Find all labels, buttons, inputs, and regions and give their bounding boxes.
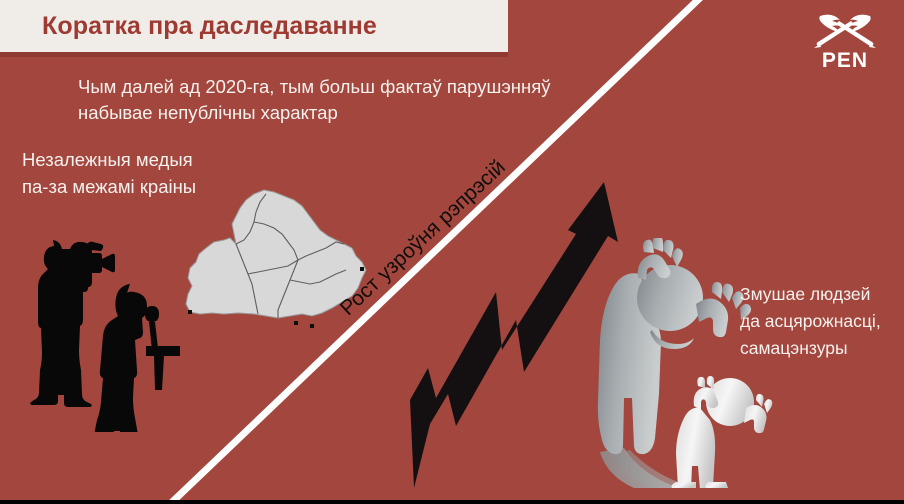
pen-logo: PEN bbox=[806, 10, 884, 72]
pen-wordmark: PEN bbox=[806, 51, 884, 71]
right-caption-text: Змушае людзей да асцярожнасці, самацэнзу… bbox=[740, 281, 881, 362]
left-caption-text: Незалежныя медыя па-за межамі краіны bbox=[22, 146, 196, 200]
slide-canvas: Коратка пра даследаванне PEN Чым далей а… bbox=[0, 0, 904, 504]
page-title: Коратка пра даследаванне bbox=[42, 12, 377, 41]
title-banner: Коратка пра даследаванне bbox=[0, 0, 508, 52]
title-banner-underline bbox=[0, 52, 508, 57]
crossed-quills-icon bbox=[810, 10, 880, 50]
journalist-silhouettes bbox=[28, 222, 188, 432]
raised-arms-figures bbox=[578, 238, 778, 488]
subtitle-text: Чым далей ад 2020-га, тым больш фактаў п… bbox=[78, 74, 550, 126]
